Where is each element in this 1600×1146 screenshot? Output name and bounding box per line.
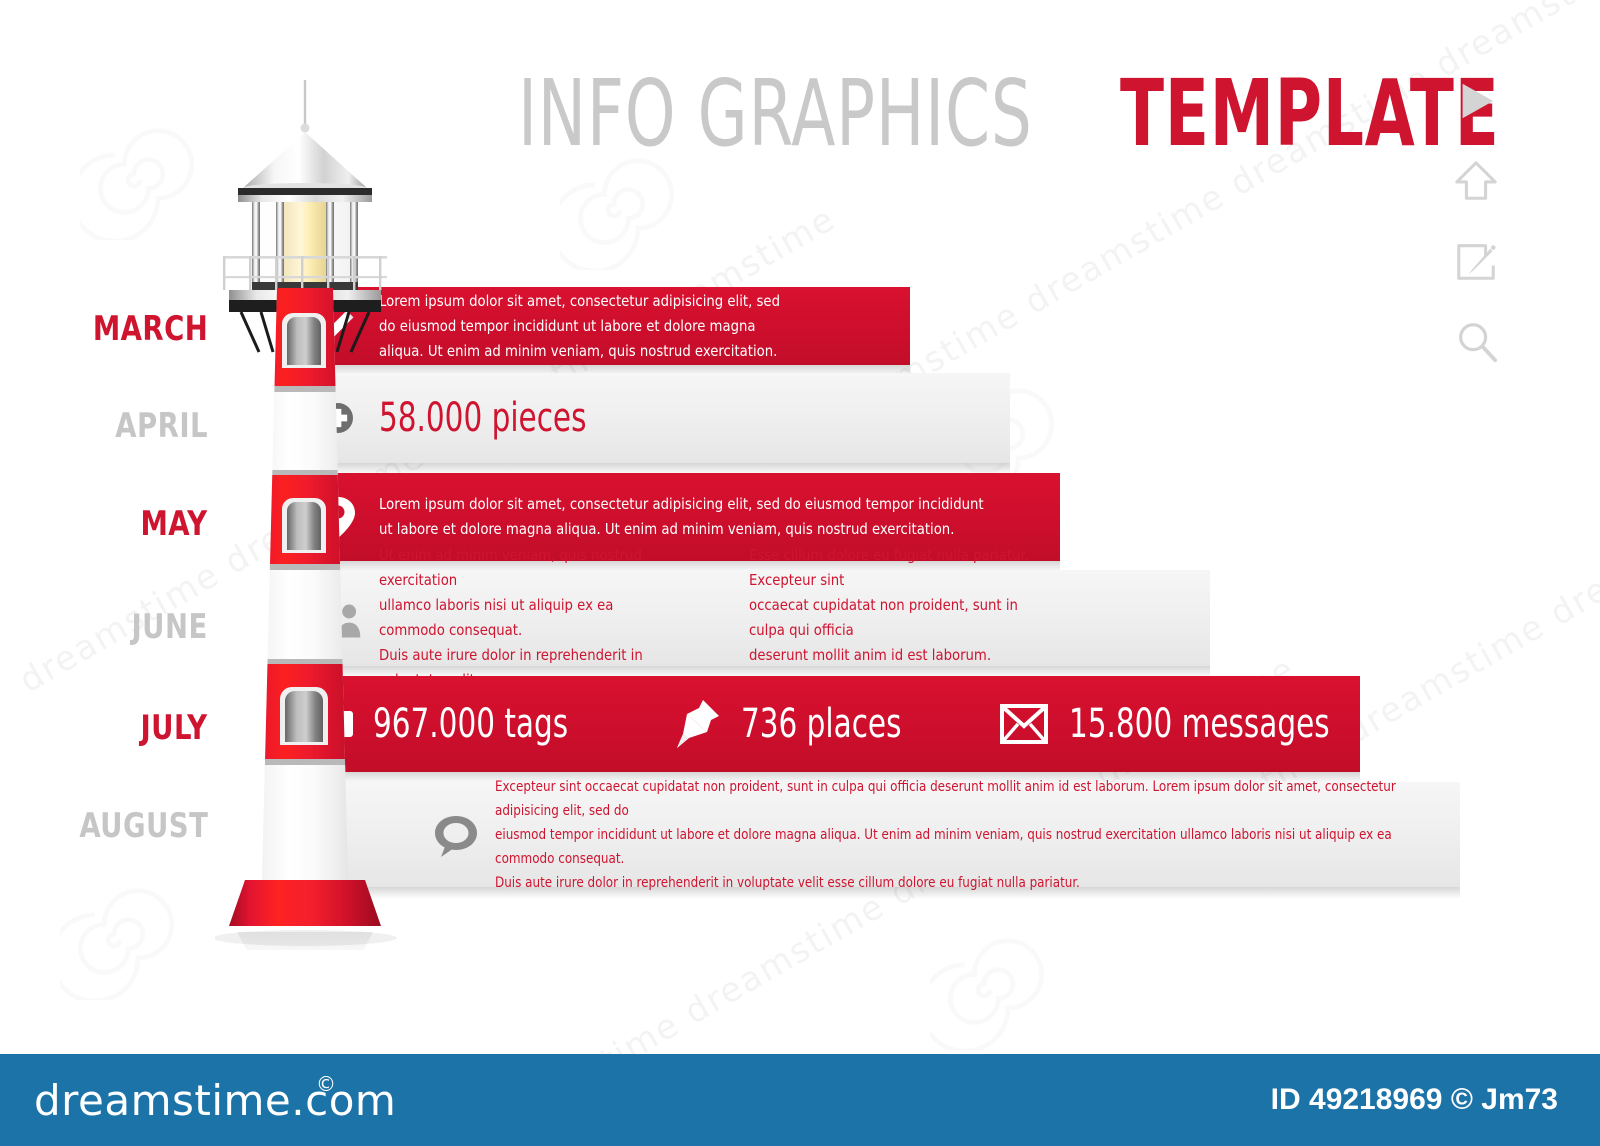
bar-august-text: Excepteur sint occaecat cupidatat non pr… <box>495 775 1412 895</box>
bar-march[interactable]: Lorem ipsum dolor sit amet, consectetur … <box>277 287 910 365</box>
month-label-july[interactable]: JULY <box>141 711 208 745</box>
text-line: Ut enim ad minim veniam, quis nostrud ex… <box>379 543 683 593</box>
text-line: ullamco laboris nisi ut aliquip ex ea co… <box>379 593 683 643</box>
watermark-spiral-icon <box>60 880 180 1000</box>
map-pin-icon <box>297 493 379 541</box>
footer-bar: dreamstime.com © ID 49218969 © Jm73 <box>0 1054 1600 1146</box>
month-label-august[interactable]: AUGUST <box>79 809 208 843</box>
stat-tags-value: 967.000 tags <box>373 702 568 746</box>
text-line: Excepteur sint occaecat cupidatat non pr… <box>495 775 1412 823</box>
page-title: INFO GRAPHICSTEMPLATE <box>518 62 1378 172</box>
text-line: Lorem ipsum dolor sit amet, consectetur … <box>379 492 984 517</box>
bar-march-text: Lorem ipsum dolor sit amet, consectetur … <box>379 289 780 364</box>
envelope-icon <box>995 704 1053 744</box>
month-label-may[interactable]: MAY <box>141 507 208 541</box>
month-label-march[interactable]: MARCH <box>93 312 208 346</box>
bar-june-columns: Ut enim ad minim veniam, quis nostrud ex… <box>379 543 1069 693</box>
title-template: TEMPLATE <box>1120 62 1500 166</box>
text-line: aliqua. Ut enim ad minim veniam, quis no… <box>379 339 780 364</box>
bar-august[interactable]: Excepteur sint occaecat cupidatat non pr… <box>277 782 1460 887</box>
text-line: deserunt mollit anim id est laborum. <box>749 643 1053 668</box>
bar-april[interactable]: 58.000 pieces <box>277 373 1010 463</box>
plus-circle-icon <box>297 398 379 438</box>
stat-tags[interactable]: 967.000 tags <box>297 702 611 746</box>
copyright-mark-icon: © <box>316 1072 337 1096</box>
pushpin-icon <box>669 698 725 750</box>
edit-square-icon[interactable] <box>1453 238 1499 284</box>
title-info-graphics: INFO GRAPHICS <box>518 62 1033 166</box>
stat-pieces: 58.000 pieces <box>379 396 586 440</box>
infographic-canvas: dreamstime dreamstime dreamstime dreamst… <box>0 0 1600 1146</box>
month-label-april[interactable]: APRIL <box>115 409 208 443</box>
stat-messages-value: 15.800 messages <box>1069 702 1330 746</box>
users-icon <box>297 596 379 640</box>
text-line: Esse cillum dolore eu fugiat nulla paria… <box>749 543 1053 593</box>
search-icon[interactable] <box>1453 318 1499 364</box>
bar-july[interactable]: 967.000 tags 736 places <box>277 676 1360 772</box>
upload-arrow-icon[interactable] <box>1453 158 1499 204</box>
bar-june[interactable]: Ut enim ad minim veniam, quis nostrud ex… <box>277 570 1210 666</box>
month-label-june[interactable]: JUNE <box>132 610 208 644</box>
text-line: do eiusmod tempor incididunt ut labore e… <box>379 314 780 339</box>
text-line: Lorem ipsum dolor sit amet, consectetur … <box>379 289 780 314</box>
watermark-spiral-icon <box>80 120 200 240</box>
stat-places[interactable]: 736 places <box>669 698 937 750</box>
icon-rail <box>1444 78 1508 364</box>
play-icon[interactable] <box>1453 78 1499 124</box>
stat-places-value: 736 places <box>741 702 901 746</box>
text-line: eiusmod tempor incididunt ut labore et d… <box>495 823 1412 871</box>
watermark-spiral-icon <box>930 930 1050 1050</box>
dreamstime-logo[interactable]: dreamstime.com © <box>34 1076 396 1125</box>
bar-june-text-left: Ut enim ad minim veniam, quis nostrud ex… <box>379 543 683 693</box>
stat-messages[interactable]: 15.800 messages <box>995 702 1387 746</box>
speech-bubble-icon <box>417 811 495 859</box>
text-line: Duis aute irure dolor in reprehenderit i… <box>495 871 1412 895</box>
tag-icon <box>297 708 357 740</box>
dreamstime-logo-text: dreamstime.com <box>34 1076 396 1125</box>
bar-june-text-right: Esse cillum dolore eu fugiat nulla paria… <box>749 543 1053 693</box>
text-line: occaecat cupidatat non proident, sunt in… <box>749 593 1053 643</box>
text-line: ut labore et dolore magna aliqua. Ut eni… <box>379 517 984 542</box>
bar-may-text: Lorem ipsum dolor sit amet, consectetur … <box>379 492 984 542</box>
image-id-label: ID 49218969 © Jm73 <box>1271 1083 1558 1117</box>
stats-row: 967.000 tags 736 places <box>297 698 1360 750</box>
pencil-icon <box>297 303 379 349</box>
